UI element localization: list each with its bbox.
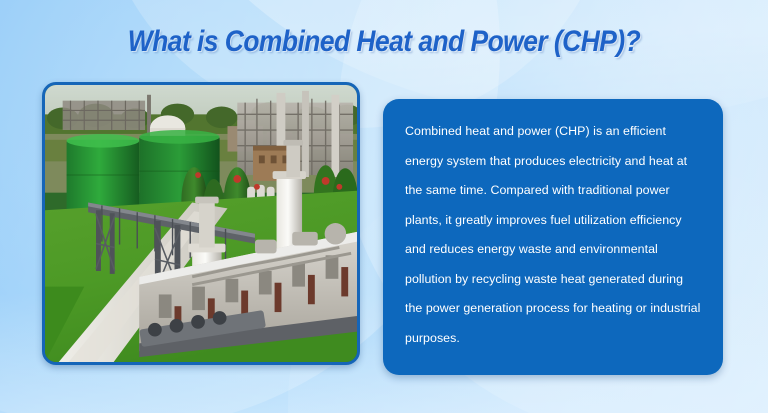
- slide-title: What is Combined Heat and Power (CHP)?: [46, 22, 722, 62]
- chp-plant-photo-card: [42, 82, 360, 365]
- description-text: Combined heat and power (CHP) is an effi…: [405, 117, 703, 353]
- description-panel: Combined heat and power (CHP) is an effi…: [383, 99, 723, 375]
- slide-canvas: What is Combined Heat and Power (CHP)?: [0, 0, 768, 413]
- chp-plant-photo: [45, 85, 357, 362]
